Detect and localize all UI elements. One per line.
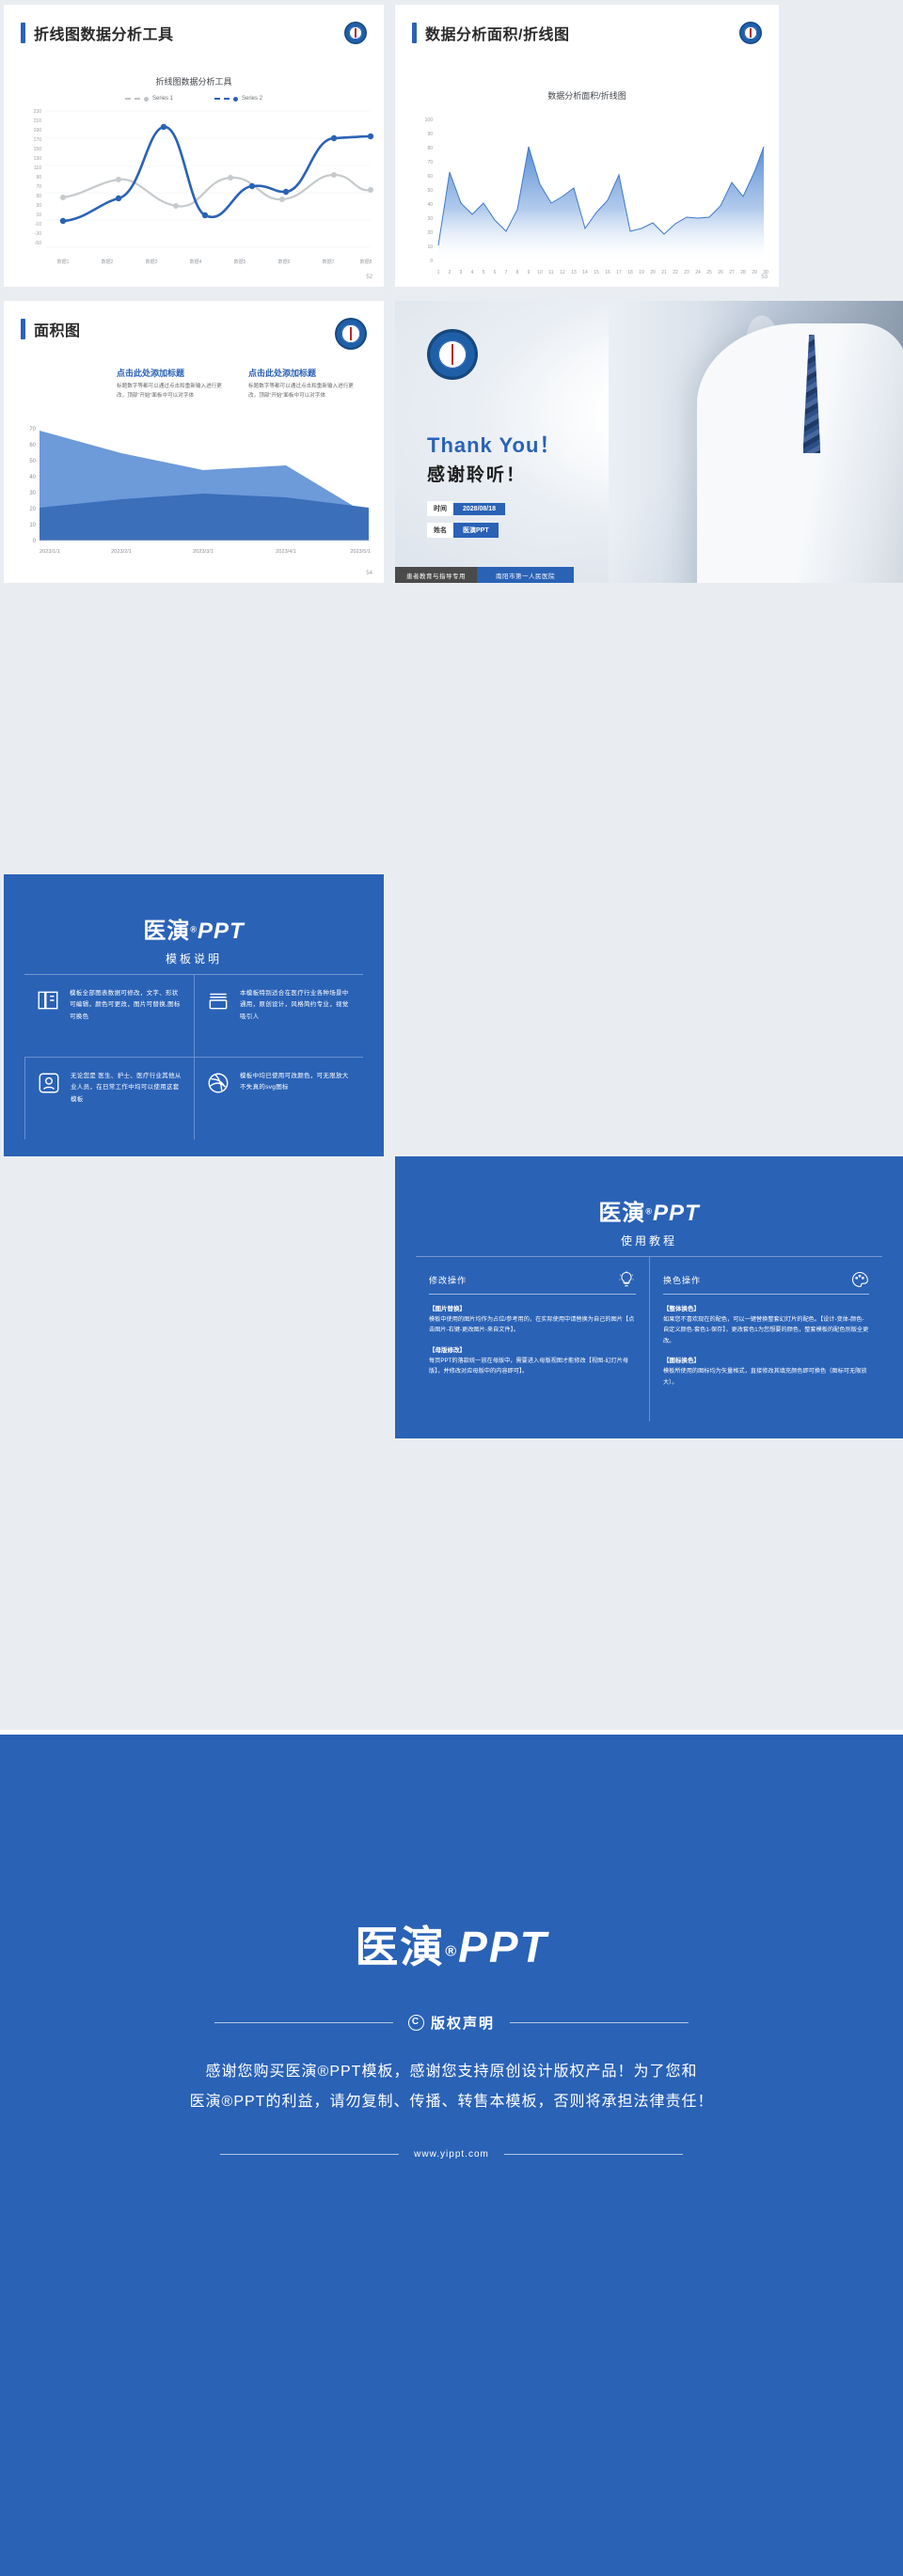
area-chart-canvas: 70 60 50 40 30 20 10 0 2023/1/1 2023/2/1… bbox=[4, 414, 384, 564]
svg-text:25: 25 bbox=[706, 270, 712, 275]
svg-text:-10: -10 bbox=[35, 222, 41, 228]
slide-area-chart[interactable]: 面积图 点击此处添加标题 标题数字等都可以通过点击和重新输入进行更改，顶部“开始… bbox=[4, 301, 384, 583]
x-tick-label: 数据6 bbox=[278, 259, 291, 265]
feature-cell: 模板全部图表数据可修改，文字、形状可编辑，颜色可更改，图片可替换,图标可换色 bbox=[24, 975, 194, 1057]
svg-text:4: 4 bbox=[471, 270, 474, 275]
svg-text:26: 26 bbox=[718, 270, 723, 275]
svg-text:40: 40 bbox=[29, 475, 36, 480]
dribbble-icon bbox=[206, 1071, 230, 1095]
svg-text:150: 150 bbox=[34, 147, 42, 152]
meta-row-time: 时间 2028/08/18 bbox=[427, 501, 561, 516]
tutorial-block-body: 模板中使用的图片均作为占位/参考用的，在实际使用中请替换为自己的图片【点击图片-… bbox=[429, 1314, 636, 1336]
svg-text:13: 13 bbox=[571, 270, 577, 275]
svg-text:29: 29 bbox=[752, 270, 757, 275]
meta-value: 医演PPT bbox=[453, 523, 499, 538]
svg-text:50: 50 bbox=[36, 194, 41, 199]
slide-tutorial[interactable]: 医演®PPT 使用教程 修改操作 【图片替换】 模板中使用的图片均作为占位/参考… bbox=[395, 1156, 903, 1438]
svg-text:50: 50 bbox=[29, 459, 36, 464]
x-tick-label: 数据5 bbox=[234, 259, 246, 265]
slide-deck-overview: 折线图数据分析工具 折线图数据分析工具 Series 1 Series 2 bbox=[0, 0, 903, 1730]
slide-header: 面积图 bbox=[21, 318, 81, 340]
svg-text:70: 70 bbox=[427, 160, 433, 165]
svg-text:-50: -50 bbox=[35, 241, 41, 246]
svg-text:17: 17 bbox=[616, 270, 622, 275]
tutorial-block-title: 【图标换色】 bbox=[663, 1355, 869, 1364]
thank-you-cn: 感谢聆听！ bbox=[427, 461, 561, 486]
brand-cn: 医演 bbox=[143, 919, 190, 944]
svg-text:110: 110 bbox=[34, 165, 41, 171]
svg-text:0: 0 bbox=[430, 259, 433, 264]
hospital-logo-icon bbox=[427, 329, 478, 380]
tutorial-block-body: 模板所使用的图标均为矢量格式，直接修改其填充颜色即可换色（图标可无限放大）。 bbox=[663, 1366, 869, 1388]
copyright-line-1: 感谢您购买医演®PPT模板，感谢您支持原创设计版权产品！为了您和 bbox=[0, 2057, 903, 2087]
meta-value: 2028/08/18 bbox=[453, 503, 505, 515]
svg-text:10: 10 bbox=[29, 523, 36, 528]
x-tick-label: 数据2 bbox=[102, 259, 114, 265]
tutorial-block-body: 每页PPT的落款统一放在母版中，需要进入母版视图才能修改【视图-幻灯片母版】，并… bbox=[429, 1356, 636, 1377]
tutorial-block-title: 【图片替换】 bbox=[429, 1303, 636, 1312]
svg-text:30: 30 bbox=[427, 216, 433, 222]
svg-text:7: 7 bbox=[505, 270, 508, 275]
svg-text:5: 5 bbox=[483, 270, 485, 275]
copyright-divider: C 版权声明 bbox=[0, 2013, 903, 2033]
x-tick-label: 数据3 bbox=[146, 259, 158, 265]
svg-text:1: 1 bbox=[437, 270, 440, 275]
line-chart-canvas: 230 210 190 170 150 130 110 90 70 50 30 … bbox=[4, 102, 384, 287]
meta-key: 姓名 bbox=[427, 523, 453, 538]
footer-left-label: 患者教育与指导专用 bbox=[395, 567, 477, 583]
brand-logotype: 医演®PPT bbox=[395, 1194, 903, 1227]
tutorial-block-title: 【整体换色】 bbox=[663, 1303, 869, 1312]
copyright-line-2: 医演®PPT的利益，请勿复制、传播、转售本模板，否则将承担法律责任！ bbox=[0, 2087, 903, 2117]
copyright-badge-label: 版权声明 bbox=[431, 2013, 495, 2033]
svg-text:190: 190 bbox=[34, 128, 42, 134]
slide-copyright[interactable]: 医演®PPT C 版权声明 感谢您购买医演®PPT模板，感谢您支持原创设计版权产… bbox=[0, 1735, 903, 2576]
book-pages-icon bbox=[36, 988, 60, 1013]
svg-text:90: 90 bbox=[427, 132, 433, 137]
tutorial-heading-row: 换色操作 bbox=[663, 1270, 869, 1295]
callout-body: 标题数字等都可以通过点击和重新输入进行更改，顶部“开始”面板中可以对字体 bbox=[117, 383, 231, 401]
callout-heading: 点击此处添加标题 bbox=[248, 367, 363, 379]
feature-cell: 本模板特别适合在医疗行业各种场景中通用，原创设计，风格简约专业，视觉吸引人 bbox=[194, 975, 363, 1057]
accent-bar bbox=[21, 319, 25, 339]
svg-text:130: 130 bbox=[34, 156, 42, 162]
website-url[interactable]: www.yippt.com bbox=[414, 2149, 489, 2160]
svg-text:18: 18 bbox=[627, 270, 633, 275]
feature-grid: 模板全部图表数据可修改，文字、形状可编辑，颜色可更改，图片可替换,图标可换色 本… bbox=[24, 974, 363, 1139]
x-tick-label: 数据4 bbox=[190, 259, 202, 265]
svg-text:90: 90 bbox=[36, 175, 41, 181]
x-tick-label: 数据7 bbox=[323, 259, 335, 265]
brand-registered: ® bbox=[190, 925, 198, 935]
tutorial-block: 【整体换色】 如果您不喜欢现在的配色，可以一键替换整套幻灯片的配色。【设计-变体… bbox=[663, 1303, 869, 1346]
tutorial-column-edit: 修改操作 【图片替换】 模板中使用的图片均作为占位/参考用的，在实际使用中请替换… bbox=[416, 1257, 649, 1422]
svg-text:19: 19 bbox=[639, 270, 644, 275]
svg-text:3: 3 bbox=[460, 270, 463, 275]
svg-text:20: 20 bbox=[650, 270, 656, 275]
svg-text:27: 27 bbox=[729, 270, 735, 275]
svg-text:230: 230 bbox=[34, 109, 42, 115]
divider-line bbox=[510, 2022, 689, 2023]
chart-title: 折线图数据分析工具 bbox=[4, 75, 384, 87]
brand-subtitle: 使用教程 bbox=[395, 1233, 903, 1249]
callout-heading: 点击此处添加标题 bbox=[117, 367, 231, 379]
x-tick-label: 2023/4/1 bbox=[276, 549, 296, 555]
legend-dash-icon bbox=[214, 98, 230, 100]
hospital-logo-icon bbox=[344, 22, 367, 44]
feature-cell: 无论您是 医生、护士、医疗行业其他从业人员，在日常工作中均可以使用这套模板 bbox=[24, 1057, 194, 1139]
svg-text:10: 10 bbox=[427, 244, 433, 250]
legend-dot-icon bbox=[233, 97, 238, 102]
hospital-logo-icon bbox=[739, 22, 762, 44]
x-tick-label: 2023/1/1 bbox=[40, 549, 60, 555]
slide-footer: 患者教育与指导专用 南阳市第一人民医院 bbox=[395, 567, 574, 583]
brand-registered: ® bbox=[645, 1207, 653, 1217]
svg-text:0: 0 bbox=[33, 539, 37, 544]
meta-key: 时间 bbox=[427, 501, 453, 516]
doctor-coat bbox=[697, 323, 903, 583]
svg-text:10: 10 bbox=[36, 212, 41, 218]
lightbulb-icon bbox=[617, 1270, 636, 1289]
slide-line-chart-tool[interactable]: 折线图数据分析工具 折线图数据分析工具 Series 1 Series 2 bbox=[4, 5, 384, 287]
x-tick-label: 数据1 bbox=[57, 259, 70, 265]
tutorial-block: 【图片替换】 模板中使用的图片均作为占位/参考用的，在实际使用中请替换为自己的图… bbox=[429, 1303, 636, 1336]
brand-logotype: 医演®PPT bbox=[4, 912, 384, 945]
svg-text:70: 70 bbox=[29, 427, 36, 432]
svg-text:210: 210 bbox=[34, 118, 42, 124]
url-divider: www.yippt.com bbox=[0, 2149, 903, 2160]
tutorial-column-recolor: 换色操作 【整体换色】 如果您不喜欢现在的配色，可以一键替换整套幻灯片的配色。【… bbox=[649, 1257, 882, 1422]
feature-text: 本模板特别适合在医疗行业各种场景中通用，原创设计，风格简约专业，视觉吸引人 bbox=[240, 988, 352, 1044]
svg-text:15: 15 bbox=[594, 270, 599, 275]
svg-text:60: 60 bbox=[427, 174, 433, 180]
page-title: 折线图数据分析工具 bbox=[34, 22, 174, 44]
svg-text:40: 40 bbox=[427, 202, 433, 208]
meta-row-name: 姓名 医演PPT bbox=[427, 523, 561, 538]
svg-text:70: 70 bbox=[36, 184, 41, 190]
svg-text:100: 100 bbox=[425, 118, 434, 123]
page-title: 数据分析面积/折线图 bbox=[425, 22, 569, 44]
svg-text:60: 60 bbox=[29, 443, 36, 448]
svg-text:170: 170 bbox=[34, 137, 42, 143]
feature-text: 模板全部图表数据可修改，文字、形状可编辑，颜色可更改，图片可替换,图标可换色 bbox=[70, 988, 182, 1044]
slide-template-note[interactable]: 医演®PPT 模板说明 模板全部图表数据可修改，文字、形状可编辑，颜色可更改，图… bbox=[4, 874, 384, 1156]
divider-line bbox=[220, 2154, 399, 2155]
brand-en: PPT bbox=[653, 1201, 700, 1226]
tutorial-heading: 换色操作 bbox=[663, 1274, 701, 1286]
svg-text:22: 22 bbox=[673, 270, 678, 275]
callout-group: 点击此处添加标题 标题数字等都可以通过点击和重新输入进行更改，顶部“开始”面板中… bbox=[117, 367, 371, 401]
svg-text:6: 6 bbox=[494, 270, 497, 275]
brand-logotype: 医演®PPT bbox=[0, 1913, 903, 1975]
tutorial-heading: 修改操作 bbox=[429, 1274, 467, 1286]
slide-area-line-chart[interactable]: 数据分析面积/折线图 数据分析面积/折线图 100 90 80 bbox=[395, 5, 779, 287]
tutorial-grid: 修改操作 【图片替换】 模板中使用的图片均作为占位/参考用的，在实际使用中请替换… bbox=[416, 1256, 882, 1422]
svg-text:9: 9 bbox=[528, 270, 531, 275]
copyright-icon: C bbox=[408, 2015, 424, 2031]
callout-body: 标题数字等都可以通过点击和重新输入进行更改，顶部“开始”面板中可以对字体 bbox=[248, 383, 363, 401]
svg-text:16: 16 bbox=[605, 270, 610, 275]
slide-thank-you[interactable]: Thank You！ 感谢聆听！ 时间 2028/08/18 姓名 医演PPT … bbox=[395, 301, 903, 583]
svg-text:2: 2 bbox=[449, 270, 451, 275]
callout: 点击此处添加标题 标题数字等都可以通过点击和重新输入进行更改，顶部“开始”面板中… bbox=[117, 367, 231, 401]
feature-text: 无论您是 医生、护士、医疗行业其他从业人员，在日常工作中均可以使用这套模板 bbox=[71, 1071, 182, 1126]
divider-line bbox=[214, 2022, 393, 2023]
tutorial-block: 【母版修改】 每页PPT的落款统一放在母版中，需要进入母版视图才能修改【视图-幻… bbox=[429, 1344, 636, 1377]
x-tick-label: 2023/5/1 bbox=[350, 549, 371, 555]
tutorial-block-body: 如果您不喜欢现在的配色，可以一键替换整套幻灯片的配色。【设计-变体-颜色-自定义… bbox=[663, 1314, 869, 1346]
brand-en: PPT bbox=[458, 1923, 547, 1971]
svg-text:23: 23 bbox=[684, 270, 689, 275]
svg-text:24: 24 bbox=[695, 270, 701, 275]
feature-cell: 模板中均已使用可改颜色，可无限放大不失真的svg图标 bbox=[194, 1057, 363, 1139]
svg-text:20: 20 bbox=[29, 507, 36, 512]
accent-bar bbox=[21, 23, 25, 43]
divider-line bbox=[504, 2154, 683, 2155]
user-circle-icon bbox=[37, 1071, 61, 1095]
feature-text: 模板中均已使用可改颜色，可无限放大不失真的svg图标 bbox=[240, 1071, 352, 1126]
slide-number: 52 bbox=[366, 275, 372, 280]
slide-number: 54 bbox=[366, 571, 372, 576]
legend-dash-icon bbox=[125, 98, 140, 100]
tutorial-block: 【图标换色】 模板所使用的图标均为矢量格式，直接修改其填充颜色即可换色（图标可无… bbox=[663, 1355, 869, 1388]
svg-text:50: 50 bbox=[427, 188, 433, 194]
area-line-chart-canvas: 100 90 80 70 60 50 40 30 20 10 0 1 bbox=[395, 109, 779, 287]
brand-subtitle: 模板说明 bbox=[4, 950, 384, 966]
tutorial-heading-row: 修改操作 bbox=[429, 1270, 636, 1295]
brand-registered: ® bbox=[445, 1944, 458, 1960]
x-tick-label: 2023/3/1 bbox=[193, 549, 214, 555]
brand-en: PPT bbox=[198, 919, 245, 944]
slide-number: 53 bbox=[761, 275, 768, 280]
page-title: 面积图 bbox=[34, 318, 81, 340]
layers-icon bbox=[206, 988, 230, 1013]
svg-text:30: 30 bbox=[36, 203, 41, 209]
slide-header: 折线图数据分析工具 bbox=[21, 22, 174, 44]
brand-cn: 医演 bbox=[355, 1923, 445, 1971]
legend-dot-icon bbox=[144, 97, 149, 102]
footer-right-label: 南阳市第一人民医院 bbox=[477, 567, 574, 583]
svg-text:11: 11 bbox=[548, 270, 553, 275]
svg-text:8: 8 bbox=[516, 270, 519, 275]
palette-icon bbox=[850, 1270, 869, 1289]
svg-text:-30: -30 bbox=[35, 231, 41, 237]
doctor-photo bbox=[609, 301, 903, 583]
x-tick-label: 数据8 bbox=[360, 259, 372, 265]
svg-text:21: 21 bbox=[661, 270, 667, 275]
slide-header: 数据分析面积/折线图 bbox=[412, 22, 569, 44]
thank-you-en: Thank You！ bbox=[427, 429, 561, 459]
chart-title: 数据分析面积/折线图 bbox=[395, 89, 779, 102]
tutorial-block-title: 【母版修改】 bbox=[429, 1344, 636, 1354]
brand-cn: 医演 bbox=[598, 1201, 645, 1226]
svg-text:14: 14 bbox=[582, 270, 588, 275]
hospital-logo-icon bbox=[335, 318, 367, 350]
callout: 点击此处添加标题 标题数字等都可以通过点击和重新输入进行更改，顶部“开始”面板中… bbox=[248, 367, 363, 401]
svg-text:20: 20 bbox=[427, 230, 433, 236]
copyright-statement: 感谢您购买医演®PPT模板，感谢您支持原创设计版权产品！为了您和 医演®PPT的… bbox=[0, 2057, 903, 2117]
copyright-badge: C 版权声明 bbox=[408, 2013, 495, 2033]
svg-text:80: 80 bbox=[427, 146, 433, 151]
x-tick-label: 2023/2/1 bbox=[111, 549, 132, 555]
svg-text:10: 10 bbox=[537, 270, 543, 275]
svg-text:28: 28 bbox=[740, 270, 746, 275]
svg-text:30: 30 bbox=[29, 491, 36, 496]
svg-text:12: 12 bbox=[560, 270, 565, 275]
accent-bar bbox=[412, 23, 417, 43]
